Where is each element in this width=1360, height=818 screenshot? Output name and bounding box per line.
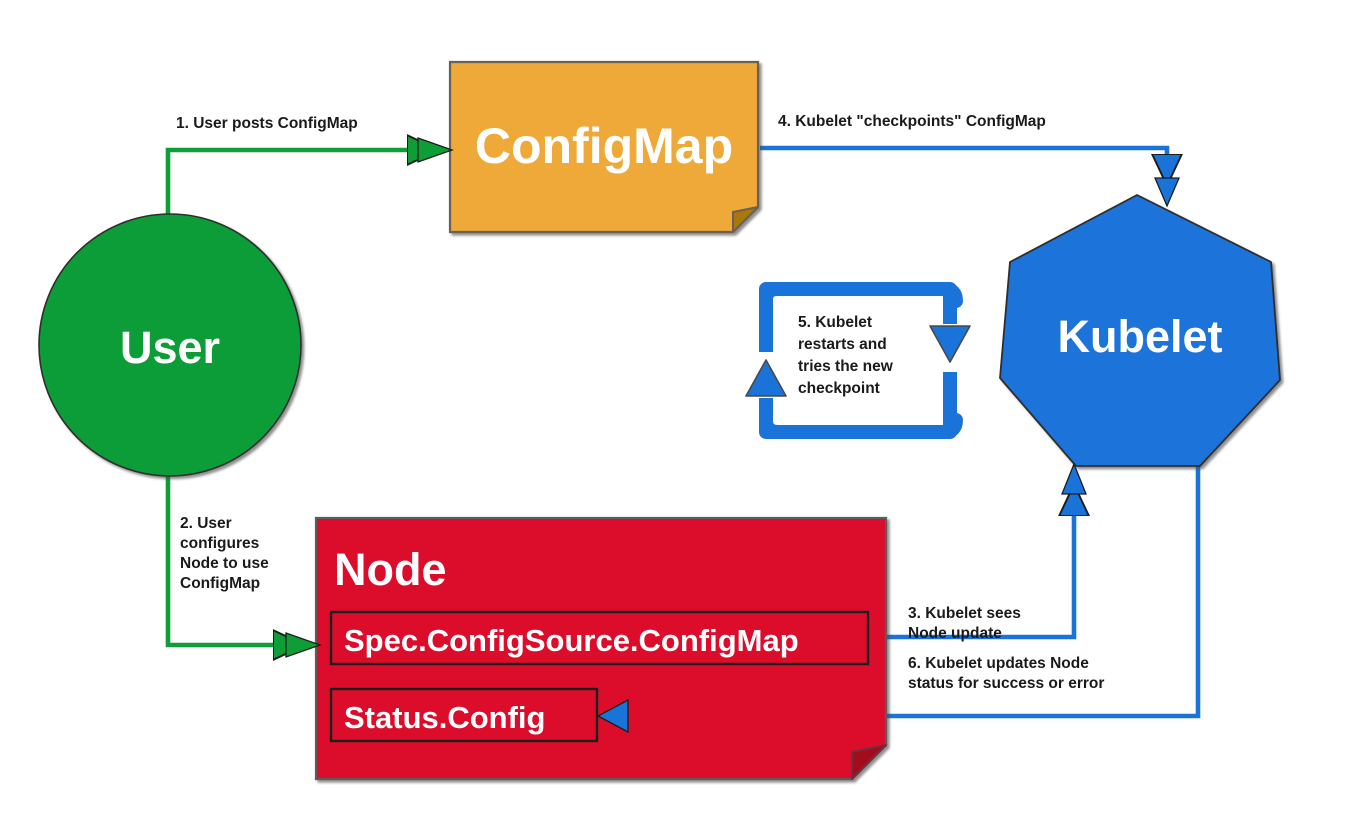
kubelet-label: Kubelet (1057, 311, 1222, 362)
step-1-arrowhead-icon (418, 138, 452, 162)
user-label: User (120, 322, 220, 373)
step-1-label: 1. User posts ConfigMap (176, 115, 358, 132)
step-6-label: 6. Kubelet updates Node status for succe… (908, 655, 1104, 692)
step-3-arrowhead-icon (1062, 464, 1086, 494)
edge-step-4: 4. Kubelet "checkpoints" ConfigMap (760, 113, 1167, 183)
step-5-label: 5. Kubelet restarts and tries the new ch… (798, 314, 897, 397)
node-label: Node (334, 544, 447, 595)
diagram-canvas: 1. User posts ConfigMap 2. User configur… (0, 0, 1360, 818)
step-5-arrowhead-up-icon (746, 360, 786, 396)
step-2-label: 2. User configures Node to use ConfigMap (180, 515, 273, 592)
edge-step-3: 3. Kubelet sees Node update (872, 487, 1074, 642)
step-5-arrowhead-down-icon (930, 326, 970, 362)
node-field-spec-label: Spec.ConfigSource.ConfigMap (344, 623, 799, 658)
node-fold-icon (852, 745, 886, 779)
node-field-status-label: Status.Config (344, 700, 546, 735)
configmap-fold-icon (733, 207, 758, 232)
step-4-label: 4. Kubelet "checkpoints" ConfigMap (778, 113, 1046, 130)
configmap-label: ConfigMap (475, 118, 733, 174)
edge-step-5: 5. Kubelet restarts and tries the new ch… (746, 289, 970, 432)
step-5-corner-top (766, 289, 956, 301)
step-4-arrowhead-icon (1155, 178, 1179, 206)
flow-diagram: 1. User posts ConfigMap 2. User configur… (0, 0, 1360, 818)
step-4-arrow (760, 148, 1167, 183)
step-5-corner-bottom (766, 420, 956, 432)
